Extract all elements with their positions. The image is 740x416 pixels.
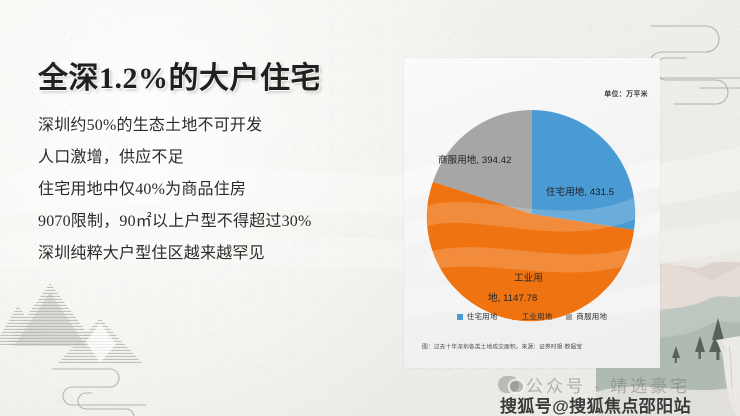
chart-unit-label: 单位：万平米 [604,89,648,99]
legend-item-industrial[interactable]: 工业用地 [512,311,553,322]
cloud-motif-top-right [649,26,740,104]
body-line: 住宅用地中仅40%为商品住房 [38,182,383,198]
wechat-account-text: 公众号 · 靖选豪宅 [526,372,690,397]
wechat-account-watermark: 公众号 · 靖选豪宅 [498,372,690,397]
body-line: 深圳纯粹大户型住区越来越罕见 [38,246,383,262]
body-line: 9070限制，90㎡以上户型不得超过30% [38,214,383,230]
source-watermark: 搜狐号@搜狐焦点邵阳站 [500,392,691,416]
legend-label-commercial: 商服用地 [576,311,607,322]
legend-swatch-industrial [512,314,518,320]
pie-chart-svg [422,104,642,324]
chart-panel: 单位：万平米 住宅用地, 431.5 商服用地, 394.42 工业用 地, 1… [404,58,660,368]
legend-item-residential[interactable]: 住宅用地 [457,311,498,322]
pie-chart: 住宅用地, 431.5 商服用地, 394.42 工业用 地, 1147.78 [422,104,642,324]
legend-item-commercial[interactable]: 商服用地 [566,311,607,322]
text-column: 全深1.2%的大户住宅 深圳约50%的生态土地不可开发 人口激增，供应不足 住宅… [38,62,383,278]
chart-legend: 住宅用地 工业用地 商服用地 [404,311,660,322]
chart-caption: 图：过去十年深圳各类土地成交面积。来源：证券时报·数据宝 [422,342,641,351]
page-title: 全深1.2%的大户住宅 [38,62,383,96]
legend-swatch-commercial [566,314,572,320]
body-line: 人口激增，供应不足 [38,150,383,166]
wechat-icon [498,376,519,393]
body-line: 深圳约50%的生态土地不可开发 [38,118,383,134]
slide-canvas: 全深1.2%的大户住宅 深圳约50%的生态土地不可开发 人口激增，供应不足 住宅… [0,0,740,416]
cloud-motif-bottom-left [52,369,146,416]
legend-label-residential: 住宅用地 [467,311,498,322]
body-text-list: 深圳约50%的生态土地不可开发 人口激增，供应不足 住宅用地中仅40%为商品住房… [38,118,383,262]
legend-swatch-residential [457,314,463,320]
legend-label-industrial: 工业用地 [522,311,553,322]
mountain-motif-bottom-left [0,283,142,363]
